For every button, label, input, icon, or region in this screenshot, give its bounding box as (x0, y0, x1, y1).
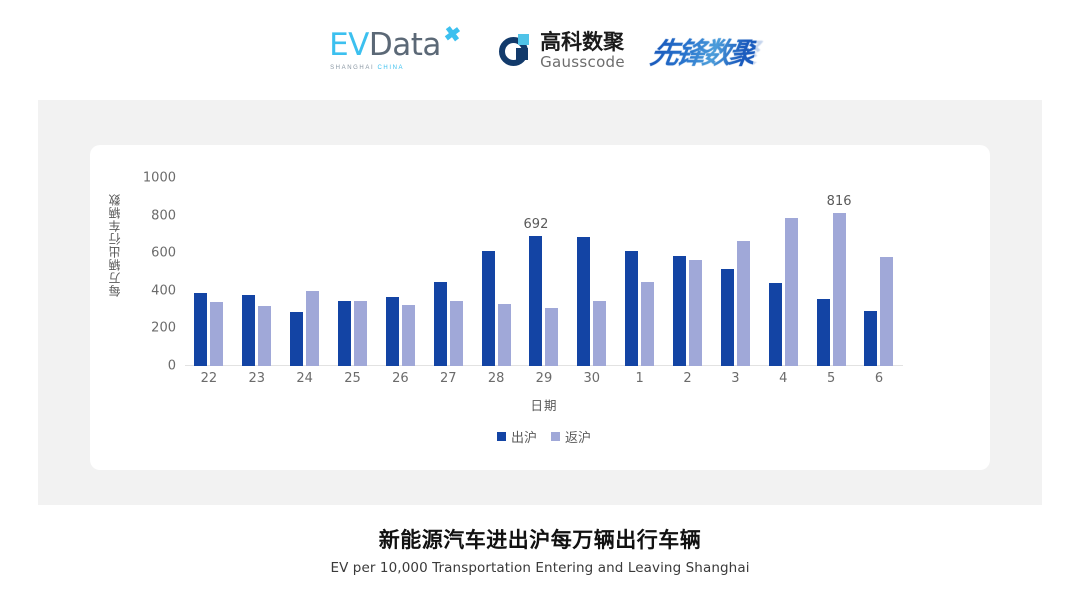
x-tick-22: 22 (185, 371, 233, 386)
bar-group-28 (472, 178, 520, 366)
bar-30-ret[interactable] (593, 301, 606, 366)
gausscode-logo: 高科数聚 Gausscode (499, 25, 625, 77)
bar-23-out[interactable] (242, 295, 255, 366)
bar-1-ret[interactable] (641, 282, 654, 366)
legend-swatch-out (497, 432, 506, 441)
bar-group-24 (281, 178, 329, 366)
evdata-word-data: Data (369, 27, 441, 63)
x-tick-23: 23 (233, 371, 281, 386)
y-tick-1000: 1000 (143, 171, 176, 186)
bar-26-ret[interactable] (402, 305, 415, 366)
gausscode-text: 高科数聚 Gausscode (540, 32, 625, 70)
y-axis-title: 每万辆出行车辆数 (106, 193, 124, 297)
evdata-tagline-city: SHANGHAI (330, 65, 377, 71)
bar-27-ret[interactable] (450, 301, 463, 366)
bar-25-out[interactable] (338, 301, 351, 366)
bar-group-29: 692 (520, 178, 568, 366)
x-tick-5: 5 (807, 371, 855, 386)
bar-5-ret[interactable]: 816 (833, 213, 846, 366)
evdata-letter-e: E (329, 27, 348, 63)
evdata-logo: EVData ✖ SHANGHAI CHINA (325, 25, 473, 77)
x-tick-24: 24 (281, 371, 329, 386)
bar-22-ret[interactable] (210, 302, 223, 366)
bar-group-27 (424, 178, 472, 366)
x-tick-29: 29 (520, 371, 568, 386)
bar-3-ret[interactable] (737, 241, 750, 366)
bar-29-ret[interactable] (545, 308, 558, 366)
bar-6-out[interactable] (864, 311, 877, 366)
logo-bar: EVData ✖ SHANGHAI CHINA 高科数聚 Gausscode 先… (0, 0, 1080, 96)
y-tick-800: 800 (151, 208, 176, 223)
bar-group-23 (233, 178, 281, 366)
bar-26-out[interactable] (386, 297, 399, 366)
plot-area: 692816 (185, 178, 903, 366)
bar-group-25 (329, 178, 377, 366)
y-tick-0: 0 (168, 359, 176, 374)
bar-25-ret[interactable] (354, 301, 367, 366)
evdata-tagline: SHANGHAI CHINA (330, 65, 404, 71)
bar-1-out[interactable] (625, 251, 638, 366)
bar-4-out[interactable] (769, 283, 782, 366)
bar-24-out[interactable] (290, 312, 303, 366)
caption-title-cn: 新能源汽车进出沪每万辆出行车辆 (0, 528, 1080, 553)
bar-value-label-29: 692 (524, 217, 549, 232)
legend-label-out: 出沪 (511, 427, 537, 446)
evdata-tagline-country: CHINA (377, 65, 404, 71)
bar-28-ret[interactable] (498, 304, 511, 366)
x-tick-3: 3 (711, 371, 759, 386)
bar-4-ret[interactable] (785, 218, 798, 366)
bar-chart: 每万辆出行车辆数 10008006004002000 692816 222324… (90, 145, 990, 470)
bar-5-out[interactable] (817, 299, 830, 366)
bar-6-ret[interactable] (880, 257, 893, 366)
x-tick-1: 1 (616, 371, 664, 386)
bar-group-5: 816 (807, 178, 855, 366)
y-tick-400: 400 (151, 283, 176, 298)
chart-panel: 每万辆出行车辆数 10008006004002000 692816 222324… (38, 100, 1042, 505)
x-tick-27: 27 (424, 371, 472, 386)
bar-group-3 (711, 178, 759, 366)
bar-groups: 692816 (185, 178, 903, 366)
evdata-letter-v: V (348, 27, 369, 63)
bar-3-out[interactable] (721, 269, 734, 366)
x-tick-4: 4 (759, 371, 807, 386)
bar-group-26 (376, 178, 424, 366)
y-axis-ticks: 10008006004002000 (130, 145, 182, 470)
gausscode-name-cn: 高科数聚 (540, 32, 625, 53)
bar-group-1 (616, 178, 664, 366)
bar-2-ret[interactable] (689, 260, 702, 366)
chart-card: 每万辆出行车辆数 10008006004002000 692816 222324… (90, 145, 990, 470)
gausscode-name-en: Gausscode (540, 55, 625, 70)
evdata-wordmark: EVData (329, 27, 441, 63)
bar-group-4 (759, 178, 807, 366)
bar-group-2 (664, 178, 712, 366)
x-tick-28: 28 (472, 371, 520, 386)
gausscode-mark-icon (499, 34, 533, 68)
bar-group-22 (185, 178, 233, 366)
x-tick-26: 26 (376, 371, 424, 386)
x-mark-icon: ✖ (442, 21, 462, 48)
y-tick-200: 200 (151, 321, 176, 336)
bar-27-out[interactable] (434, 282, 447, 366)
bar-22-out[interactable] (194, 293, 207, 366)
x-axis-title: 日期 (185, 395, 903, 414)
caption-block: 新能源汽车进出沪每万辆出行车辆 EV per 10,000 Transporta… (0, 528, 1080, 576)
x-tick-6: 6 (855, 371, 903, 386)
bar-value-label-5: 816 (827, 194, 852, 209)
x-tick-30: 30 (568, 371, 616, 386)
bar-30-out[interactable] (577, 237, 590, 366)
gausscode-square-light (518, 34, 529, 45)
bar-29-out[interactable]: 692 (529, 236, 542, 366)
bar-2-out[interactable] (673, 256, 686, 366)
bar-23-ret[interactable] (258, 306, 271, 366)
bar-24-ret[interactable] (306, 291, 319, 366)
y-tick-600: 600 (151, 246, 176, 261)
caption-title-en: EV per 10,000 Transportation Entering an… (0, 560, 1080, 576)
bar-group-6 (855, 178, 903, 366)
chart-legend: 出沪返沪 (185, 427, 903, 446)
xianfeng-shuju-logo: 先锋数聚 (648, 30, 759, 72)
x-tick-2: 2 (664, 371, 712, 386)
legend-item-out[interactable]: 出沪 (497, 427, 537, 446)
legend-item-ret[interactable]: 返沪 (551, 427, 591, 446)
x-tick-25: 25 (329, 371, 377, 386)
legend-label-ret: 返沪 (565, 427, 591, 446)
x-axis-ticks: 222324252627282930123456 (185, 371, 903, 386)
gausscode-square-dark (516, 48, 528, 60)
bar-group-30 (568, 178, 616, 366)
bar-28-out[interactable] (482, 251, 495, 366)
legend-swatch-ret (551, 432, 560, 441)
